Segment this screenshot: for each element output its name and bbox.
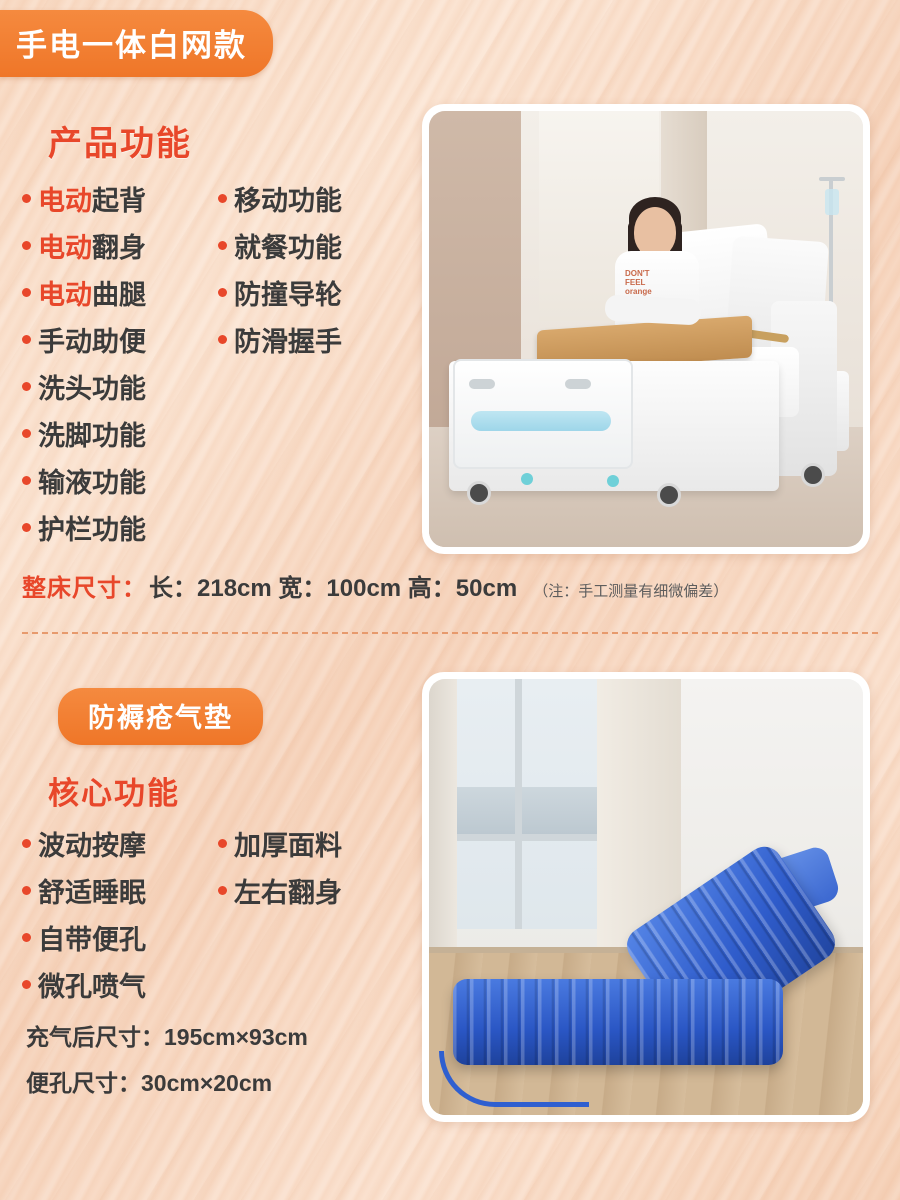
feature-spacer xyxy=(218,914,398,961)
section-divider xyxy=(22,632,878,634)
feature-item: 手动助便 xyxy=(22,316,218,363)
bullet-dot-icon xyxy=(22,980,31,989)
feature-item: 舒适睡眠 xyxy=(22,867,218,914)
feature-label: 舒适睡眠 xyxy=(38,871,146,910)
feature-item: 防滑握手 xyxy=(218,316,398,363)
feature-item: 电动起背 xyxy=(22,175,218,222)
feature-spacer xyxy=(218,457,398,504)
feature-spacer xyxy=(218,504,398,551)
bullet-dot-icon xyxy=(22,476,31,485)
feature-label: 左右翻身 xyxy=(234,871,342,910)
section1-heading: 产品功能 xyxy=(48,116,192,165)
section1-tag: 手电一体白网款 xyxy=(0,10,273,77)
feature-item: 电动曲腿 xyxy=(22,269,218,316)
feature-item: 洗头功能 xyxy=(22,363,218,410)
feature-label: 护栏功能 xyxy=(38,508,146,547)
feature-item: 波动按摩 xyxy=(22,820,218,867)
poster-page: 手电一体白网款 产品功能 电动起背 移动功能 电动翻身 就餐功能 电动曲腿 防撞… xyxy=(0,0,900,1200)
feature-item: 移动功能 xyxy=(218,175,398,222)
inflated-size: 充气后尺寸：195cm×93cm xyxy=(26,1018,308,1052)
feature-prefix: 电动 xyxy=(38,179,92,218)
bullet-dot-icon xyxy=(22,933,31,942)
bullet-dot-icon xyxy=(218,194,227,203)
feature-label: 加厚面料 xyxy=(234,824,342,863)
feature-item: 电动翻身 xyxy=(22,222,218,269)
section2-dimensions: 充气后尺寸：195cm×93cm 便孔尺寸：30cm×20cm xyxy=(26,1018,308,1110)
bullet-dot-icon xyxy=(22,429,31,438)
product-photo-bed: DON'TFEELorange xyxy=(422,104,870,554)
feature-spacer xyxy=(218,410,398,457)
section1-feature-list: 电动起背 移动功能 电动翻身 就餐功能 电动曲腿 防撞导轮 手动助便 防滑握手 … xyxy=(22,175,412,551)
bullet-dot-icon xyxy=(22,288,31,297)
feature-spacer xyxy=(218,961,398,1008)
feature-item: 防撞导轮 xyxy=(218,269,398,316)
product-photo-mattress xyxy=(422,672,870,1122)
bullet-dot-icon xyxy=(22,241,31,250)
feature-label: 输液功能 xyxy=(38,461,146,500)
section2-heading: 核心功能 xyxy=(48,768,180,813)
bullet-dot-icon xyxy=(218,335,227,344)
bullet-dot-icon xyxy=(22,335,31,344)
bullet-dot-icon xyxy=(218,288,227,297)
feature-item: 加厚面料 xyxy=(218,820,398,867)
feature-item: 左右翻身 xyxy=(218,867,398,914)
feature-label: 就餐功能 xyxy=(234,226,342,265)
feature-spacer xyxy=(218,363,398,410)
section2-tag: 防褥疮气垫 xyxy=(58,688,263,745)
feature-label: 防滑握手 xyxy=(234,320,342,359)
feature-label: 起背 xyxy=(92,179,146,218)
feature-label: 移动功能 xyxy=(234,179,342,218)
dimensions-label: 整床尺寸： xyxy=(22,568,147,603)
feature-label: 微孔喷气 xyxy=(38,965,146,1004)
dimensions-note: （注：手工测量有细微偏差） xyxy=(533,580,728,601)
feature-label: 自带便孔 xyxy=(38,918,146,957)
feature-item: 输液功能 xyxy=(22,457,218,504)
bullet-dot-icon xyxy=(218,886,227,895)
section2-feature-list: 波动按摩 加厚面料 舒适睡眠 左右翻身 自带便孔 微孔喷气 xyxy=(22,820,412,1008)
hole-size: 便孔尺寸：30cm×20cm xyxy=(26,1064,308,1098)
feature-label: 波动按摩 xyxy=(38,824,146,863)
feature-item: 就餐功能 xyxy=(218,222,398,269)
bullet-dot-icon xyxy=(22,839,31,848)
feature-label: 洗头功能 xyxy=(38,367,146,406)
section1-dimensions: 整床尺寸： 长：218cm 宽：100cm 高：50cm （注：手工测量有细微偏… xyxy=(22,568,728,603)
feature-label: 翻身 xyxy=(92,226,146,265)
feature-item: 微孔喷气 xyxy=(22,961,218,1008)
feature-prefix: 电动 xyxy=(38,226,92,265)
feature-item: 护栏功能 xyxy=(22,504,218,551)
bullet-dot-icon xyxy=(218,839,227,848)
feature-prefix: 电动 xyxy=(38,273,92,312)
bullet-dot-icon xyxy=(22,886,31,895)
feature-label: 手动助便 xyxy=(38,320,146,359)
dimensions-value: 长：218cm 宽：100cm 高：50cm xyxy=(149,568,517,603)
feature-label: 曲腿 xyxy=(92,273,146,312)
feature-item: 洗脚功能 xyxy=(22,410,218,457)
bullet-dot-icon xyxy=(218,241,227,250)
bullet-dot-icon xyxy=(22,194,31,203)
feature-label: 洗脚功能 xyxy=(38,414,146,453)
feature-label: 防撞导轮 xyxy=(234,273,342,312)
bullet-dot-icon xyxy=(22,523,31,532)
bullet-dot-icon xyxy=(22,382,31,391)
feature-item: 自带便孔 xyxy=(22,914,218,961)
